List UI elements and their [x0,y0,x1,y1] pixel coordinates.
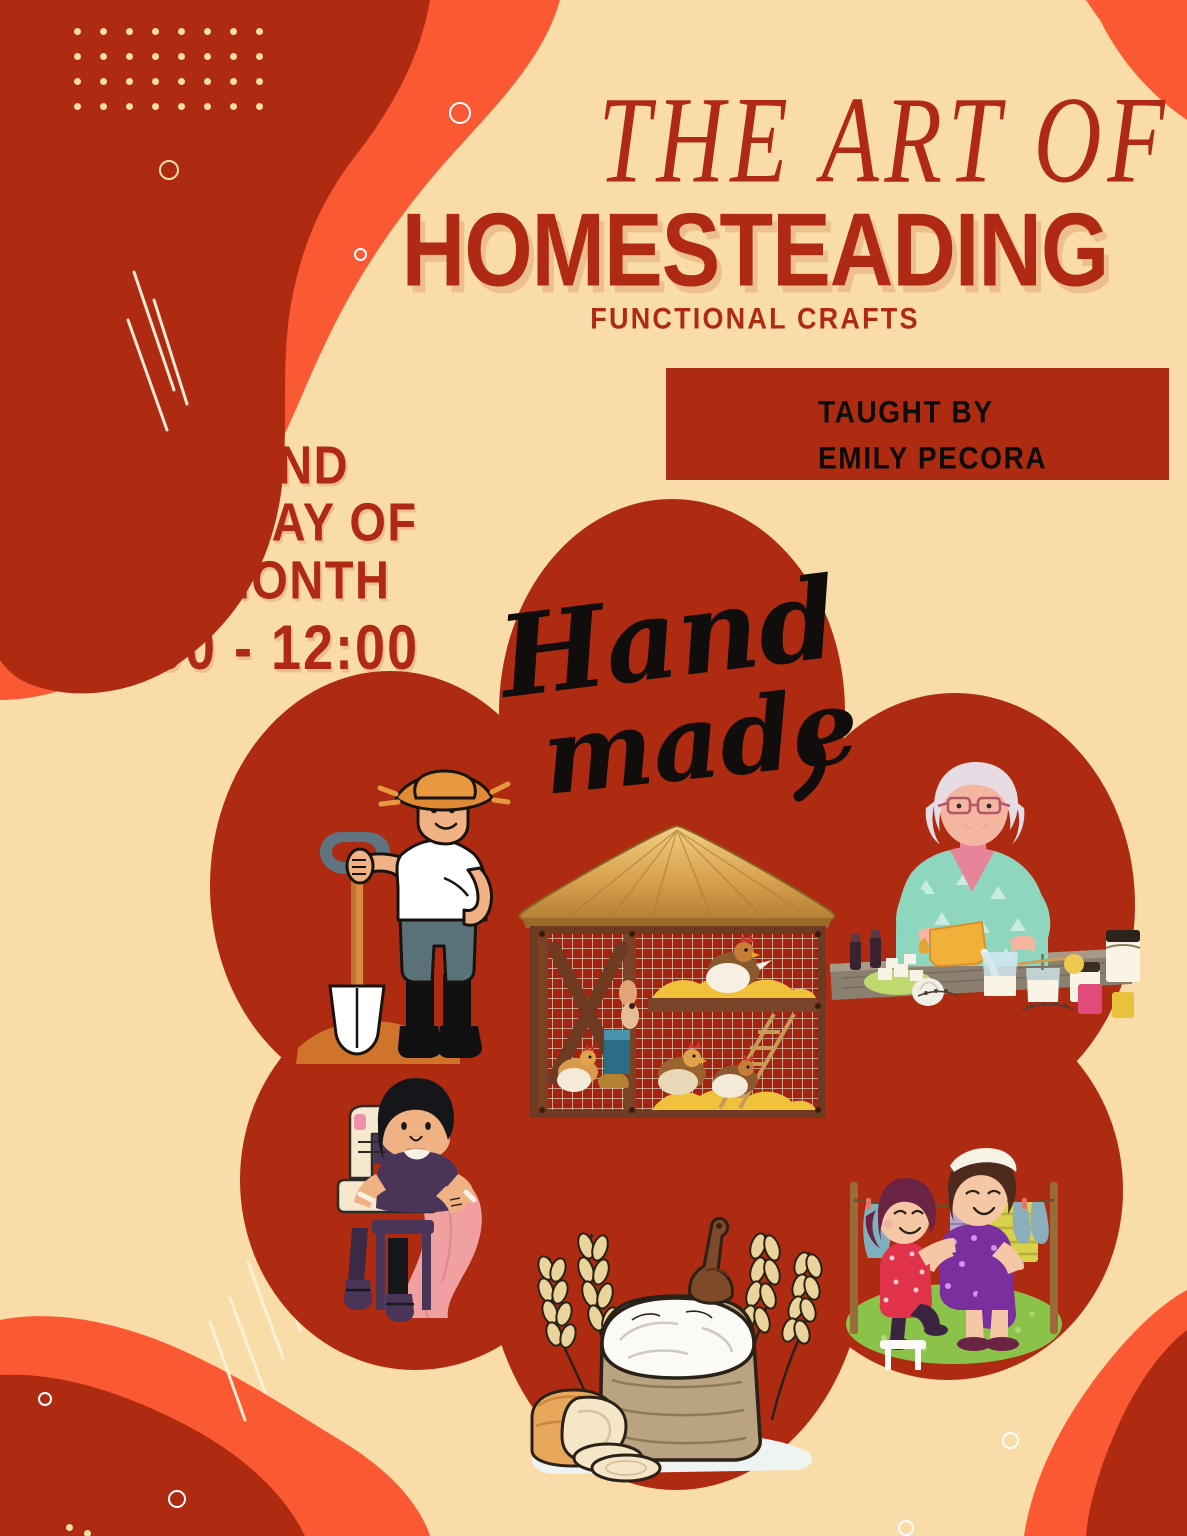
dot-icon [230,53,237,60]
schedule-block: SECOND SATURDAY OF THE MONTH [14,432,474,604]
dot-icon [74,53,81,60]
illustration-laundry-line [836,1138,1086,1368]
instructor-name: EMILY PECORA [818,435,1047,480]
schedule-line-1: SECOND [14,432,474,497]
ring-icon [168,1490,186,1508]
dot-icon [256,28,263,35]
page-title: HOMESTEADING [330,198,1180,302]
illustration-bread-and-flour-sack [516,1212,836,1488]
dot-icon [204,53,211,60]
dot-icon [100,78,107,85]
dot-icon [84,1530,91,1536]
dot-icon [74,28,81,35]
ring-icon [159,160,179,180]
instructor-box: TAUGHT BY EMILY PECORA [666,368,1169,480]
dot-icon [74,103,81,110]
dot-icon [204,103,211,110]
dot-icon [100,103,107,110]
script-title: THE ART OF [598,78,1141,205]
dot-icon [256,78,263,85]
dot-icon [256,103,263,110]
ring-icon [1002,1432,1019,1449]
dot-icon [178,103,185,110]
dot-icon [126,103,133,110]
dot-icon [100,28,107,35]
dot-icon [152,78,159,85]
ring-icon [38,1392,52,1406]
schedule-line-2: SATURDAY OF [14,489,474,554]
instructor-label: TAUGHT BY [818,390,1047,435]
dot-icon [230,28,237,35]
schedule-line-3: THE MONTH [14,547,474,612]
dot-icon [152,28,159,35]
diagonal-lines-lower [210,1238,300,1420]
schedule-time: 10:00 - 12:00 [14,612,474,684]
dot-icon [230,103,237,110]
dot-icon [178,78,185,85]
dot-icon [256,53,263,60]
handmade-badge: Hand made [455,582,885,822]
dot-icon [230,78,237,85]
dot-icon [126,53,133,60]
dot-icon [178,28,185,35]
instructor-text: TAUGHT BY EMILY PECORA [818,390,1047,481]
illustration-chicken-coop [512,818,842,1128]
dot-icon [126,28,133,35]
dot-icon [100,53,107,60]
ring-icon [449,102,471,124]
dot-icon [66,1524,73,1531]
subtitle: FUNCTIONAL CRAFTS [330,302,1180,336]
dot-icon [178,53,185,60]
dot-icon [126,78,133,85]
diagonal-lines-upper [128,272,187,430]
poster-canvas: THE ART OF HOMESTEADING FUNCTIONAL CRAFT… [0,0,1187,1536]
dot-icon [152,53,159,60]
dot-icon [152,103,159,110]
illustration-seamstress [324,1068,534,1328]
dot-icon [204,78,211,85]
dot-icon [74,78,81,85]
ring-icon [898,1520,914,1536]
dot-icon [204,28,211,35]
